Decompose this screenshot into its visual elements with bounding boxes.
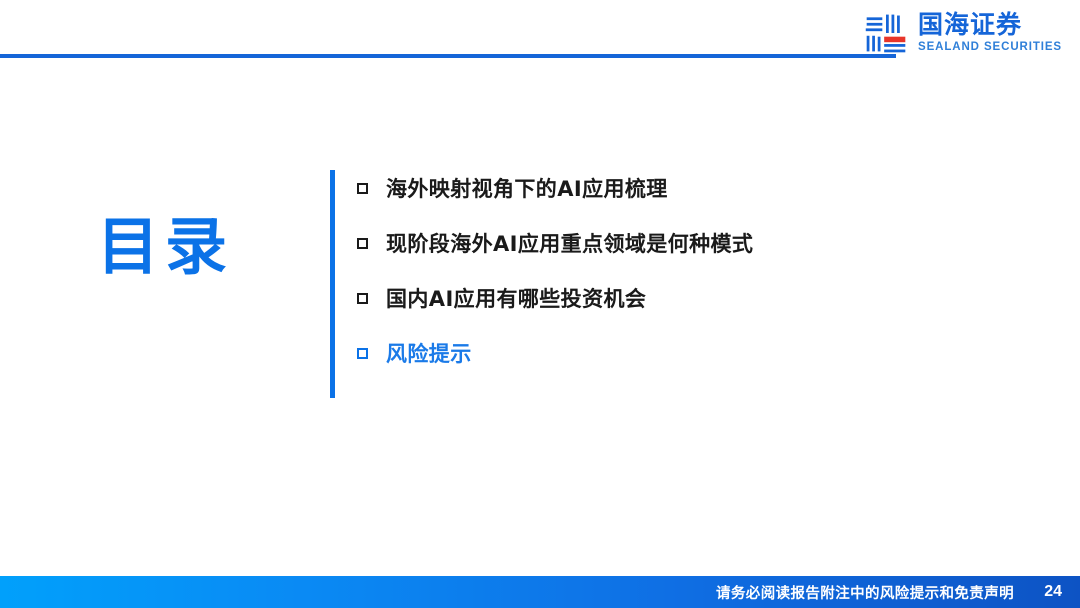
hollow-square-bullet-icon bbox=[357, 348, 368, 359]
header-rule bbox=[0, 54, 896, 58]
brand-wordmark: 国海证券 SEALAND SECURITIES bbox=[918, 13, 1062, 54]
hollow-square-bullet-icon bbox=[357, 183, 368, 194]
toc-list: 海外映射视角下的AI应用梳理 现阶段海外AI应用重点领域是何种模式 国内AI应用… bbox=[335, 160, 1080, 380]
brand-name-en: SEALAND SECURITIES bbox=[918, 42, 1062, 54]
toc-item-2[interactable]: 现阶段海外AI应用重点领域是何种模式 bbox=[357, 215, 1080, 270]
brand-name-cn: 国海证券 bbox=[918, 13, 1022, 38]
table-of-contents: 目录 海外映射视角下的AI应用梳理 现阶段海外AI应用重点领域是何种模式 国内A… bbox=[0, 160, 1080, 398]
page-title: 目录 bbox=[0, 160, 330, 286]
toc-item-label: 现阶段海外AI应用重点领域是何种模式 bbox=[386, 228, 753, 258]
brand-logo: 国海证券 SEALAND SECURITIES bbox=[863, 10, 1062, 56]
footer-bar: 请务必阅读报告附注中的风险提示和免责声明 24 bbox=[0, 576, 1080, 608]
slide-canvas: 国海证券 SEALAND SECURITIES 目录 海外映射视角下的AI应用梳… bbox=[0, 0, 1080, 608]
toc-item-1[interactable]: 海外映射视角下的AI应用梳理 bbox=[357, 160, 1080, 215]
hollow-square-bullet-icon bbox=[357, 293, 368, 304]
toc-item-4[interactable]: 风险提示 bbox=[357, 325, 1080, 380]
toc-item-label: 海外映射视角下的AI应用梳理 bbox=[386, 173, 668, 203]
hollow-square-bullet-icon bbox=[357, 238, 368, 249]
toc-item-label: 国内AI应用有哪些投资机会 bbox=[386, 283, 646, 313]
footer-disclaimer: 请务必阅读报告附注中的风险提示和免责声明 bbox=[716, 582, 1014, 603]
toc-item-3[interactable]: 国内AI应用有哪些投资机会 bbox=[357, 270, 1080, 325]
sealand-emblem-icon bbox=[863, 10, 909, 56]
page-number: 24 bbox=[1038, 583, 1062, 601]
toc-item-label: 风险提示 bbox=[386, 338, 472, 368]
